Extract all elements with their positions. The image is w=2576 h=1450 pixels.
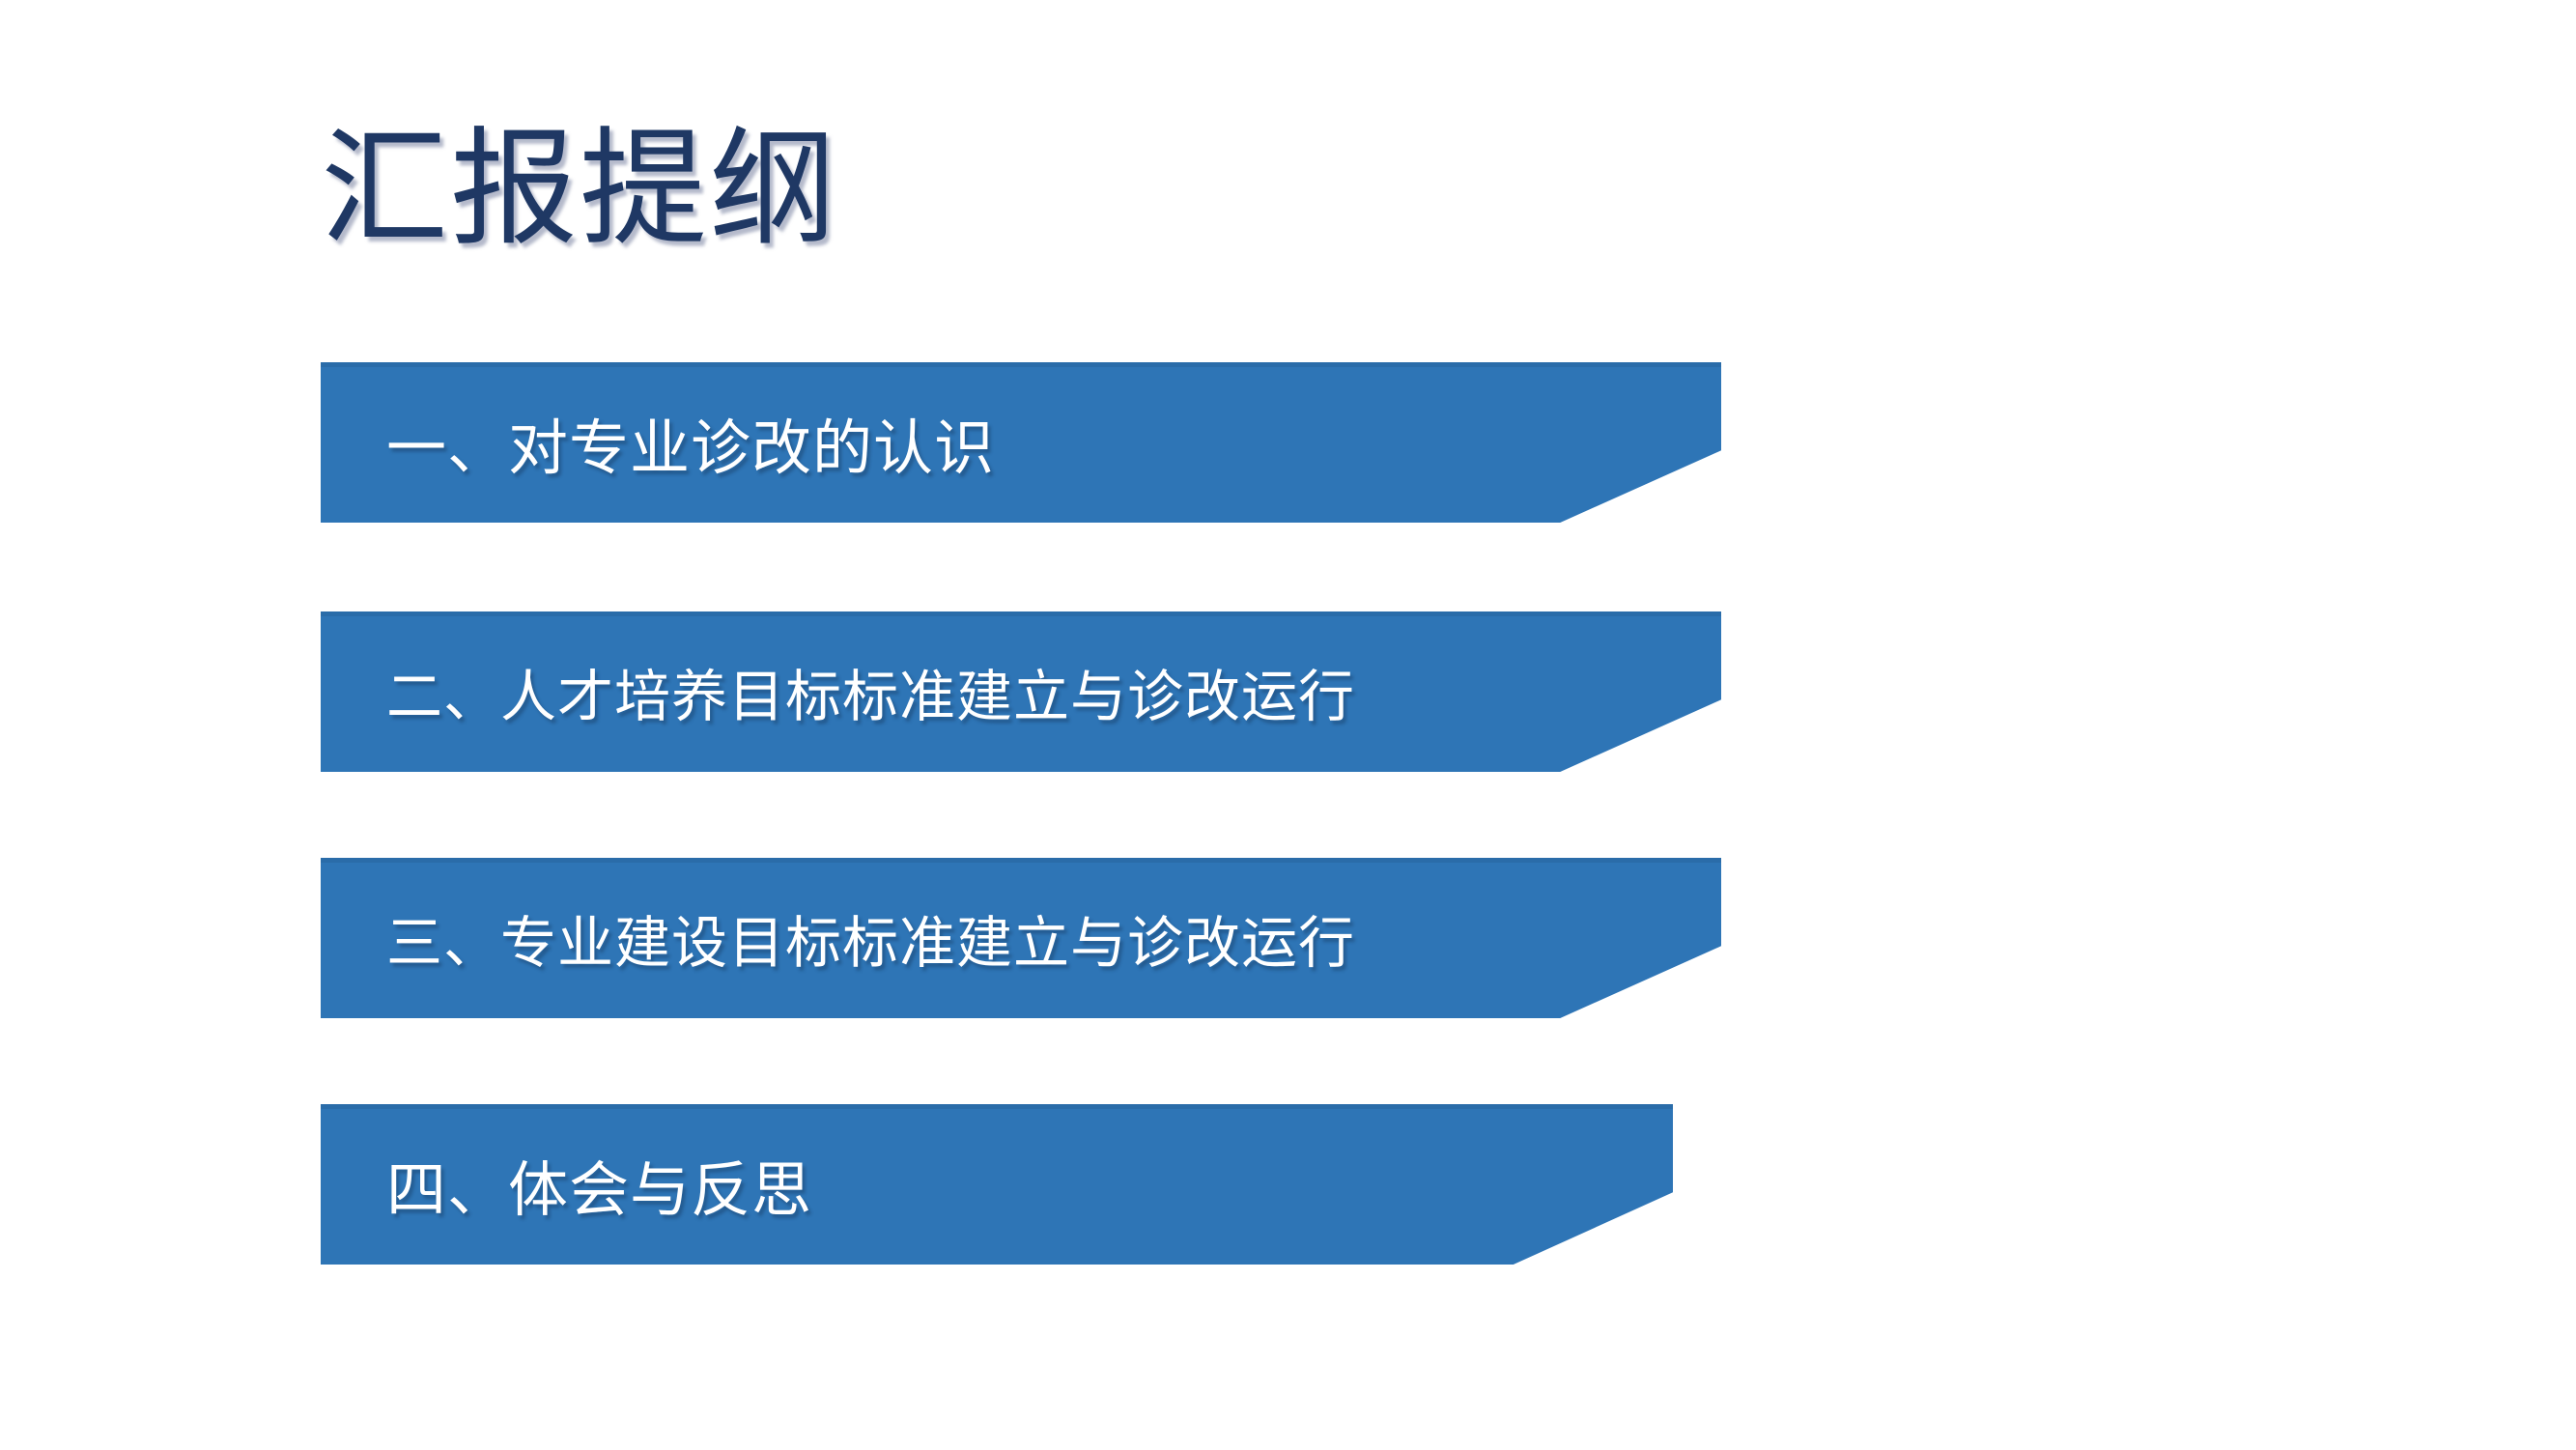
outline-item-4-label: 四、体会与反思 <box>321 1141 812 1228</box>
outline-item-2[interactable]: 二、人才培养目标标准建立与诊改运行 <box>321 611 1721 772</box>
presentation-slide: 汇报提纲 一、对专业诊改的认识 二、人才培养目标标准建立与诊改运行 三、专业建设… <box>0 0 2576 1450</box>
outline-banner-list: 一、对专业诊改的认识 二、人才培养目标标准建立与诊改运行 三、专业建设目标标准建… <box>0 0 2576 1450</box>
outline-item-1[interactable]: 一、对专业诊改的认识 <box>321 362 1721 523</box>
outline-item-1-label: 一、对专业诊改的认识 <box>321 399 995 486</box>
outline-item-4[interactable]: 四、体会与反思 <box>321 1104 1673 1265</box>
outline-item-2-label: 二、人才培养目标标准建立与诊改运行 <box>321 651 1355 732</box>
outline-item-3-label: 三、专业建设目标标准建立与诊改运行 <box>321 897 1355 979</box>
outline-item-3[interactable]: 三、专业建设目标标准建立与诊改运行 <box>321 858 1721 1018</box>
